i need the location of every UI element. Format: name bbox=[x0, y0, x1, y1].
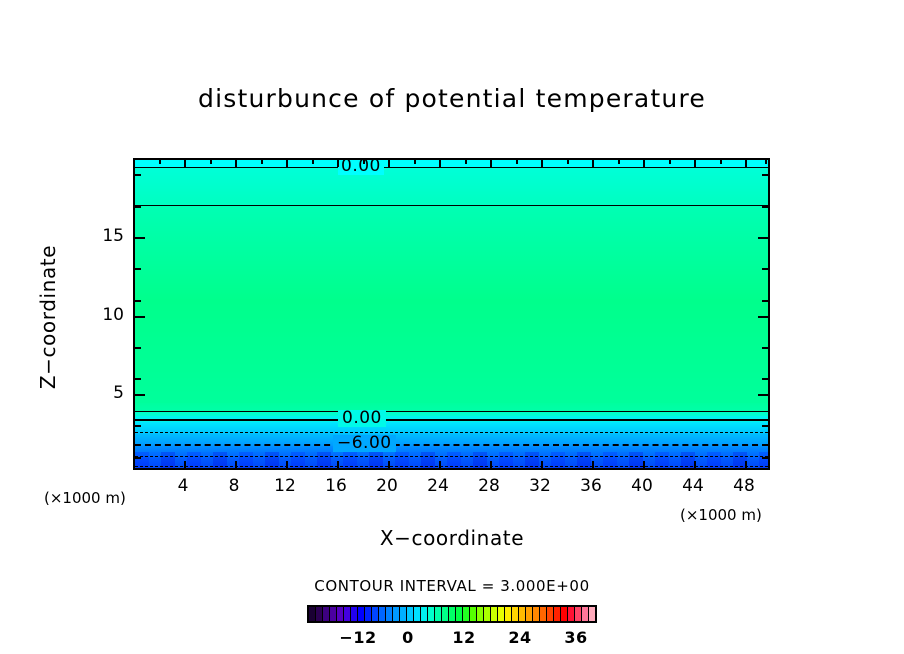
tick-left-minor-11 bbox=[135, 300, 141, 302]
colorbar-swatch-33 bbox=[540, 607, 547, 621]
tick-right-minor-11 bbox=[762, 300, 768, 302]
colorbar-swatch-8 bbox=[365, 607, 372, 621]
xtick-label-28: 28 bbox=[469, 476, 509, 496]
colorbar-swatch-4 bbox=[337, 607, 344, 621]
tick-left-5 bbox=[135, 394, 145, 396]
contour-label-neg6: −6.00 bbox=[333, 435, 396, 452]
tick-left-minor-3 bbox=[135, 425, 141, 427]
tick-top-minor-26 bbox=[465, 160, 467, 164]
ytick-label-10: 10 bbox=[90, 305, 124, 325]
colorbar-swatch-13 bbox=[400, 607, 407, 621]
tick-right-minor-3 bbox=[762, 425, 768, 427]
colorbar-swatch-10 bbox=[379, 607, 386, 621]
tick-top-minor-2 bbox=[159, 160, 161, 164]
tick-left-minor-6 bbox=[135, 378, 141, 380]
colorbar-swatch-21 bbox=[456, 607, 463, 621]
tick-bottom-36 bbox=[592, 461, 594, 468]
colorbar-swatch-24 bbox=[477, 607, 484, 621]
colorbar-swatch-20 bbox=[449, 607, 456, 621]
tick-top-minor-6 bbox=[210, 160, 212, 164]
colorbar-swatch-31 bbox=[526, 607, 533, 621]
colorbar-swatch-23 bbox=[470, 607, 477, 621]
colorbar-swatch-25 bbox=[484, 607, 491, 621]
colorbar-swatch-2 bbox=[323, 607, 330, 621]
contour-line-neg12 bbox=[135, 466, 768, 467]
fill-band-surface-mottling bbox=[135, 452, 768, 470]
tick-top-20 bbox=[388, 160, 390, 167]
colorbar-swatch-39 bbox=[582, 607, 589, 621]
tick-bottom-16 bbox=[337, 461, 339, 468]
y-axis-title: Z−coordinate bbox=[36, 207, 60, 427]
tick-top-minor-22 bbox=[414, 160, 416, 164]
contour-label-0-top: 0.00 bbox=[338, 158, 384, 175]
colorbar-swatch-34 bbox=[547, 607, 554, 621]
tick-left-10 bbox=[135, 316, 145, 318]
tick-bottom-28 bbox=[490, 461, 492, 468]
ytick-label-5: 5 bbox=[90, 383, 124, 403]
xtick-label-24: 24 bbox=[418, 476, 458, 496]
contour-line-neg3 bbox=[135, 432, 768, 433]
fill-band-upper-turquoise bbox=[135, 168, 768, 206]
tick-top-36 bbox=[592, 160, 594, 167]
tick-bottom-12 bbox=[286, 461, 288, 468]
contour-line-neg6 bbox=[135, 444, 768, 446]
xtick-label-12: 12 bbox=[265, 476, 305, 496]
tick-top-minor-34 bbox=[567, 160, 569, 164]
tick-top-24 bbox=[439, 160, 441, 167]
colorbar-swatch-7 bbox=[358, 607, 365, 621]
tick-top-32 bbox=[541, 160, 543, 167]
colorbar-swatch-9 bbox=[372, 607, 379, 621]
tick-bottom-48 bbox=[745, 461, 747, 468]
tick-top-minor-30 bbox=[516, 160, 518, 164]
colorbar-swatch-30 bbox=[519, 607, 526, 621]
tick-left-minor-1 bbox=[135, 457, 141, 459]
tick-top-40 bbox=[643, 160, 645, 167]
colorbar-swatch-18 bbox=[435, 607, 442, 621]
colorbar-swatch-15 bbox=[414, 607, 421, 621]
tick-top-28 bbox=[490, 160, 492, 167]
page-title: disturbunce of potential temperature bbox=[0, 84, 904, 113]
xtick-label-20: 20 bbox=[367, 476, 407, 496]
x-axis-title: X−coordinate bbox=[0, 526, 904, 550]
tick-bottom-40 bbox=[643, 461, 645, 468]
tick-left-minor-19 bbox=[135, 174, 141, 176]
colorbar-swatch-11 bbox=[386, 607, 393, 621]
tick-bottom-20 bbox=[388, 461, 390, 468]
colorbar-tick-12: 12 bbox=[442, 628, 486, 647]
tick-right-minor-1 bbox=[762, 457, 768, 459]
tick-top-minor-10 bbox=[261, 160, 263, 164]
colorbar-swatch-28 bbox=[505, 607, 512, 621]
xtick-label-48: 48 bbox=[724, 476, 764, 496]
tick-right-15 bbox=[758, 237, 768, 239]
contour-line-0-lower bbox=[135, 419, 768, 421]
colorbar-swatch-37 bbox=[568, 607, 575, 621]
tick-left-minor-13 bbox=[135, 268, 141, 270]
tick-top-minor-46 bbox=[720, 160, 722, 164]
tick-right-10 bbox=[758, 316, 768, 318]
colorbar-swatch-22 bbox=[463, 607, 470, 621]
contour-interval-label: CONTOUR INTERVAL = 3.000E+00 bbox=[0, 577, 904, 595]
tick-top-4 bbox=[184, 160, 186, 167]
tick-top-8 bbox=[235, 160, 237, 167]
colorbar-swatch-1 bbox=[316, 607, 323, 621]
tick-top-minor-18 bbox=[363, 160, 365, 164]
colorbar bbox=[307, 605, 597, 623]
contour-label-0-lower: 0.00 bbox=[338, 410, 386, 427]
contour-plot-area: 0.00 0.00 −6.00 bbox=[133, 158, 770, 470]
tick-top-48 bbox=[745, 160, 747, 167]
colorbar-swatch-26 bbox=[491, 607, 498, 621]
tick-top-minor-42 bbox=[669, 160, 671, 164]
colorbar-swatch-19 bbox=[442, 607, 449, 621]
colorbar-swatch-38 bbox=[575, 607, 582, 621]
x-axis-units-label: (×1000 m) bbox=[680, 506, 762, 524]
tick-bottom-4 bbox=[184, 461, 186, 468]
colorbar-swatch-29 bbox=[512, 607, 519, 621]
tick-top-16 bbox=[337, 160, 339, 167]
tick-left-minor-17 bbox=[135, 206, 141, 208]
colorbar-swatch-3 bbox=[330, 607, 337, 621]
colorbar-swatch-27 bbox=[498, 607, 505, 621]
tick-right-minor-6 bbox=[762, 378, 768, 380]
colorbar-swatch-0 bbox=[309, 607, 316, 621]
colorbar-swatch-35 bbox=[554, 607, 561, 621]
xtick-label-16: 16 bbox=[316, 476, 356, 496]
tick-top-minor-50 bbox=[765, 160, 767, 164]
colorbar-tick-0: 0 bbox=[386, 628, 430, 647]
xtick-label-44: 44 bbox=[673, 476, 713, 496]
fill-band-mid-upper-green bbox=[135, 206, 768, 301]
tick-top-minor-38 bbox=[618, 160, 620, 164]
tick-bottom-44 bbox=[694, 461, 696, 468]
tick-top-12 bbox=[286, 160, 288, 167]
tick-left-minor-8 bbox=[135, 347, 141, 349]
tick-left-15 bbox=[135, 237, 145, 239]
tick-right-minor-13 bbox=[762, 268, 768, 270]
xtick-label-40: 40 bbox=[622, 476, 662, 496]
tick-top-minor-14 bbox=[312, 160, 314, 164]
colorbar-swatch-40 bbox=[589, 607, 595, 621]
colorbar-swatch-32 bbox=[533, 607, 540, 621]
colorbar-swatch-5 bbox=[344, 607, 351, 621]
contour-line-0-upper bbox=[135, 205, 768, 206]
tick-top-44 bbox=[694, 160, 696, 167]
tick-right-minor-8 bbox=[762, 347, 768, 349]
tick-bottom-32 bbox=[541, 461, 543, 468]
colorbar-swatch-6 bbox=[351, 607, 358, 621]
colorbar-swatch-14 bbox=[407, 607, 414, 621]
contour-line-neg9 bbox=[135, 456, 768, 457]
contour-line-0-lower-thin bbox=[135, 411, 768, 412]
colorbar-tick-neg12: −12 bbox=[336, 628, 380, 647]
colorbar-swatch-12 bbox=[393, 607, 400, 621]
colorbar-tick-24: 24 bbox=[498, 628, 542, 647]
tick-right-minor-17 bbox=[762, 206, 768, 208]
colorbar-swatch-17 bbox=[428, 607, 435, 621]
xtick-label-32: 32 bbox=[520, 476, 560, 496]
contour-line-0-top bbox=[135, 167, 768, 168]
tick-right-minor-19 bbox=[762, 174, 768, 176]
tick-bottom-8 bbox=[235, 461, 237, 468]
tick-bottom-24 bbox=[439, 461, 441, 468]
ytick-label-15: 15 bbox=[90, 226, 124, 246]
xtick-label-8: 8 bbox=[214, 476, 254, 496]
colorbar-tick-36: 36 bbox=[554, 628, 598, 647]
colorbar-swatch-36 bbox=[561, 607, 568, 621]
colorbar-swatch-16 bbox=[421, 607, 428, 621]
tick-right-5 bbox=[758, 394, 768, 396]
xtick-label-36: 36 bbox=[571, 476, 611, 496]
xtick-label-4: 4 bbox=[163, 476, 203, 496]
y-axis-units-label: (×1000 m) bbox=[44, 489, 126, 507]
